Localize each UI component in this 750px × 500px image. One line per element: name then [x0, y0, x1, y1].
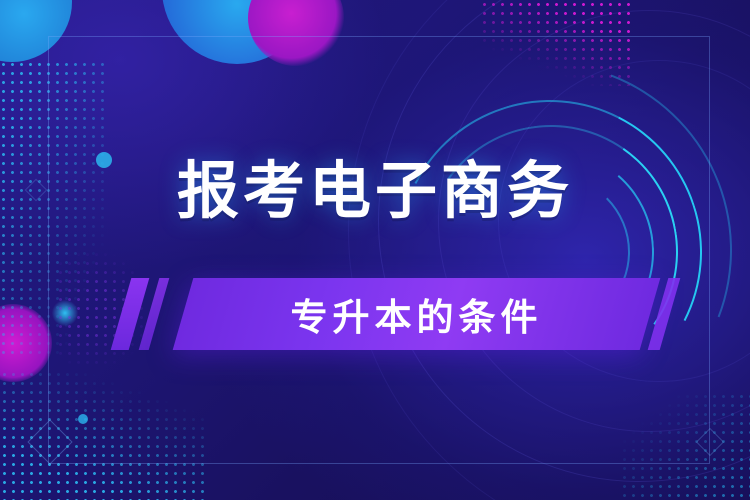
- decor-blob-magenta-left: [0, 304, 52, 382]
- decor-arc-1: [358, 60, 741, 443]
- poster-canvas: 报考电子商务 专升本的条件: [0, 0, 750, 500]
- poster-subtitle-ribbon: 专升本的条件: [105, 278, 650, 350]
- decor-square-bottom-right: [696, 428, 724, 456]
- halftone-dots-bottom-left-icon: [0, 370, 210, 500]
- decor-arc-5: [296, 2, 750, 498]
- decor-blob-top-left: [0, 0, 72, 62]
- decor-dot-cyan-left: [52, 300, 78, 326]
- decor-blob-top-center: [162, 0, 312, 64]
- decor-frame: [48, 36, 710, 464]
- decor-ring-4: [348, 0, 750, 500]
- decor-arc-2: [404, 105, 698, 399]
- halftone-dots-bottom-right-icon: [620, 392, 750, 500]
- poster-headline: 报考电子商务: [0, 160, 750, 222]
- decor-blob-magenta-top: [248, 0, 344, 66]
- decor-dot-cyan-bottom: [78, 414, 88, 424]
- decor-ring-1: [378, 0, 750, 482]
- poster-subtitle: 专升本的条件: [183, 278, 650, 350]
- halftone-dots-top-right-icon: [480, 0, 630, 86]
- decor-square-bottom-left: [27, 419, 72, 464]
